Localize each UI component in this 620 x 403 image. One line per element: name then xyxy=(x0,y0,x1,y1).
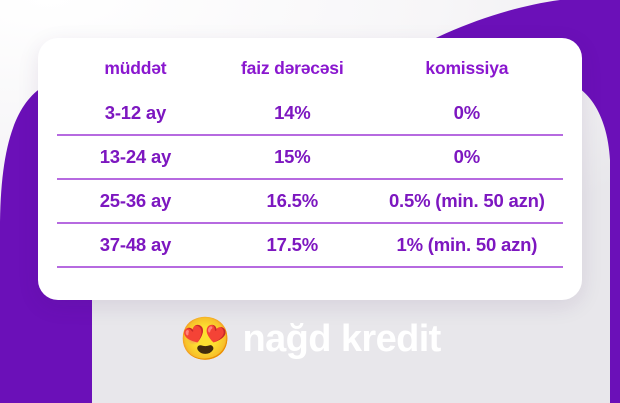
cell-faiz: 16.5% xyxy=(214,190,371,212)
promo-poster: müddət faiz dərəcəsi komissiya 3-12 ay 1… xyxy=(0,0,620,403)
column-header-muddet: müddət xyxy=(57,58,214,79)
table-row: 13-24 ay 15% 0% xyxy=(57,134,563,178)
rates-card: müddət faiz dərəcəsi komissiya 3-12 ay 1… xyxy=(38,38,582,300)
cell-muddet: 3-12 ay xyxy=(57,102,214,124)
table-row: 3-12 ay 14% 0% xyxy=(57,92,563,134)
cell-muddet: 25-36 ay xyxy=(57,190,214,212)
cell-faiz: 15% xyxy=(214,146,371,168)
cell-komissiya: 1% (min. 50 azn) xyxy=(371,234,563,256)
table-row: 25-36 ay 16.5% 0.5% (min. 50 azn) xyxy=(57,178,563,222)
table-row: 37-48 ay 17.5% 1% (min. 50 azn) xyxy=(57,222,563,266)
smiling-face-with-heart-eyes-icon: 😍 xyxy=(179,318,231,360)
column-header-komissiya: komissiya xyxy=(371,58,563,79)
cell-komissiya: 0.5% (min. 50 azn) xyxy=(371,190,563,212)
brand-lockup: 😍 nağd kredit xyxy=(0,318,620,360)
cell-komissiya: 0% xyxy=(371,146,563,168)
cell-muddet: 37-48 ay xyxy=(57,234,214,256)
cell-muddet: 13-24 ay xyxy=(57,146,214,168)
table-bottom-separator xyxy=(57,266,563,268)
cell-komissiya: 0% xyxy=(371,102,563,124)
brand-name: nağd kredit xyxy=(243,320,441,358)
table-header-row: müddət faiz dərəcəsi komissiya xyxy=(57,38,563,92)
cell-faiz: 14% xyxy=(214,102,371,124)
column-header-faiz-deracesi: faiz dərəcəsi xyxy=(214,58,371,79)
cell-faiz: 17.5% xyxy=(214,234,371,256)
rates-table: müddət faiz dərəcəsi komissiya 3-12 ay 1… xyxy=(57,38,563,300)
